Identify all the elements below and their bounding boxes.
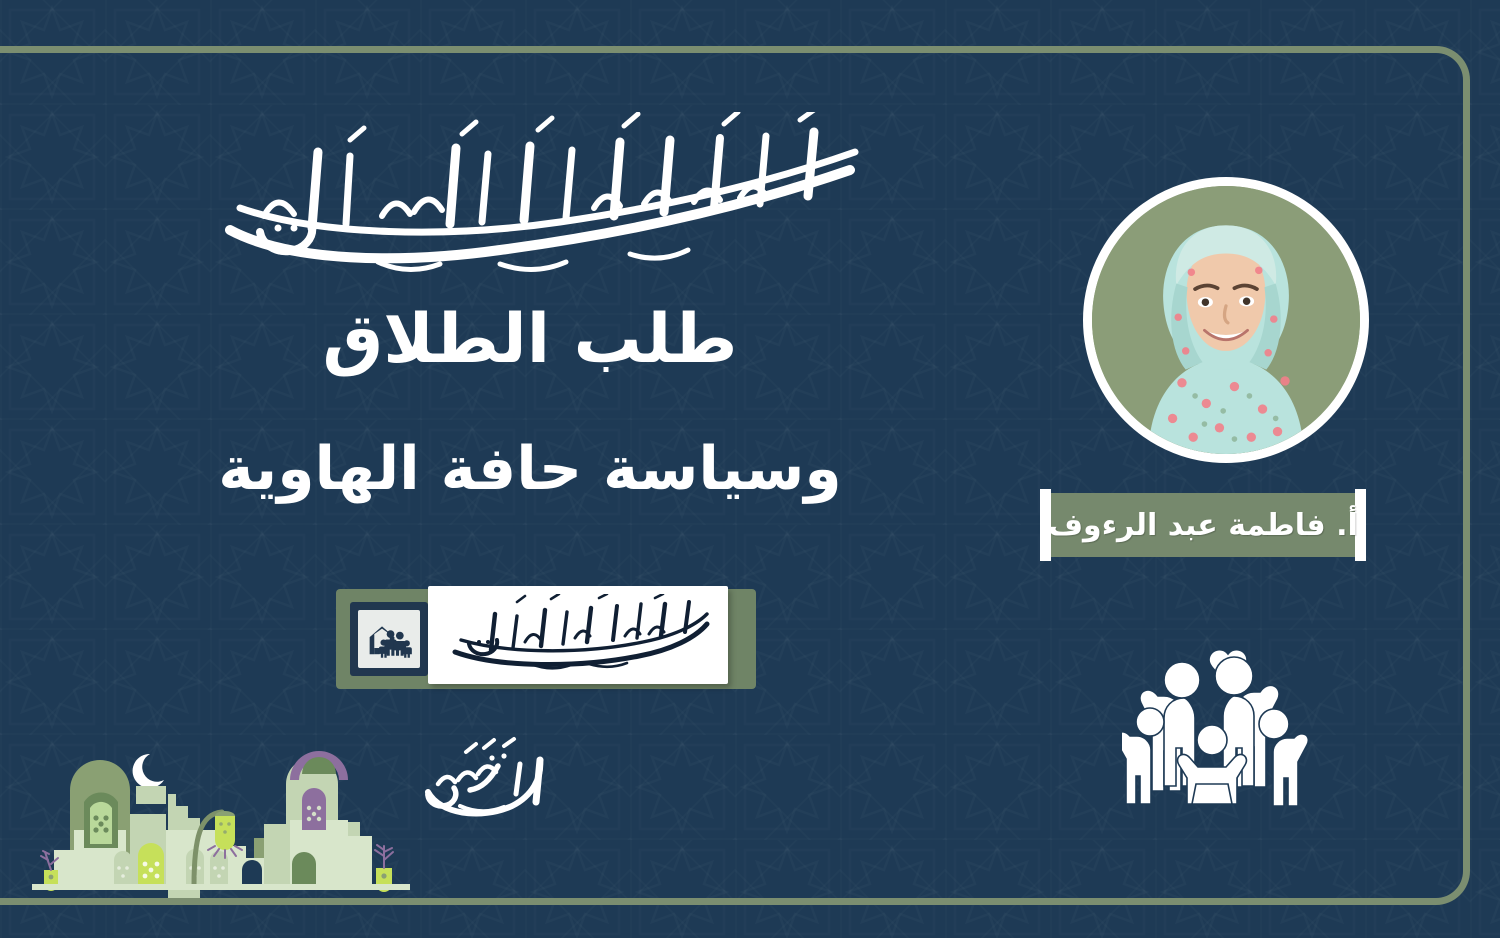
avatar	[1083, 177, 1369, 463]
program-icon-plate	[358, 610, 420, 668]
program-label-card	[428, 586, 728, 684]
footer-bar: www.istsharat.net	[0, 718, 1500, 838]
speaker-name-badge: أ. فاطمة عبد الرءوف	[1022, 489, 1384, 561]
program-calligraphy	[439, 594, 717, 676]
program-icon-frame	[350, 602, 428, 676]
headline-line-1: طلب الطلاق	[180, 300, 880, 380]
headline-line-2: وسياسة حافة الهاوية	[140, 430, 920, 508]
poster-canvas: طلب الطلاق وسياسة حافة الهاوية	[0, 0, 1500, 938]
speaker-name: أ. فاطمة عبد الرءوف	[1022, 489, 1384, 561]
house-family-icon	[365, 617, 413, 662]
society-mark-calligraphy	[420, 736, 555, 822]
program-label	[336, 589, 756, 689]
brand-title-calligraphy	[200, 112, 890, 282]
